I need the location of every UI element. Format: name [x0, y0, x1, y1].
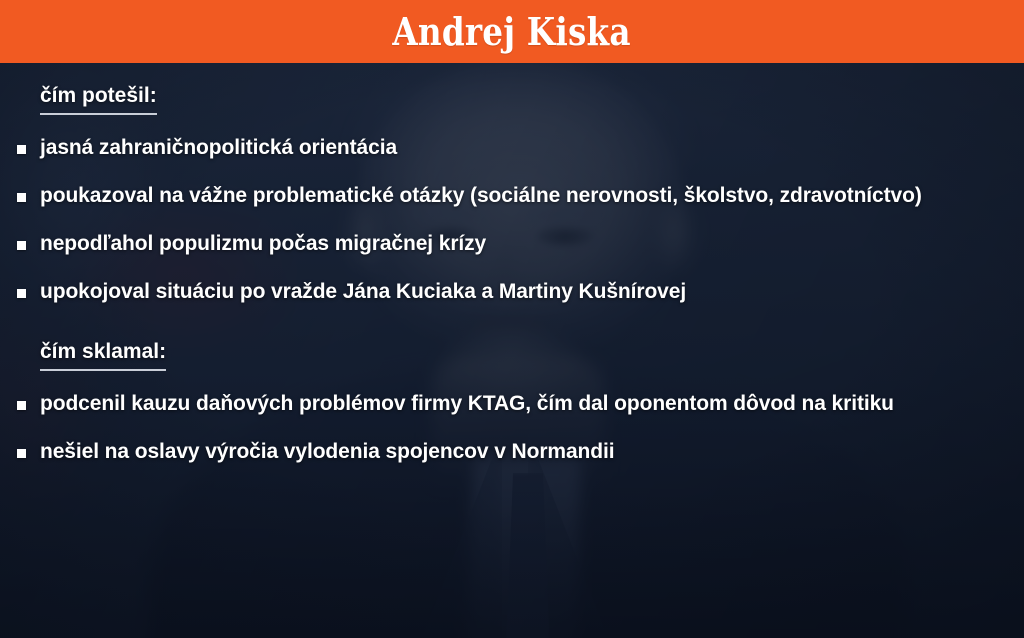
list-item: poukazoval na vážne problematické otázky…: [14, 172, 1010, 220]
section-heading-negatives: čím sklamal:: [40, 338, 166, 371]
bullet-list-positives: jasná zahraničnopolitická orientácia pou…: [14, 124, 1010, 316]
section-positives: čím potešil: jasná zahraničnopolitická o…: [14, 82, 1010, 316]
bullet-list-negatives: podcenil kauzu daňových problémov firmy …: [14, 380, 1010, 476]
list-item: upokojoval situáciu po vražde Jána Kucia…: [14, 268, 1010, 316]
section-negatives: čím sklamal: podcenil kauzu daňových pro…: [14, 338, 1010, 476]
list-item: jasná zahraničnopolitická orientácia: [14, 124, 1010, 172]
page-title: Andrej Kiska: [393, 13, 631, 51]
list-item: podcenil kauzu daňových problémov firmy …: [14, 380, 1010, 428]
list-item: nepodľahol populizmu počas migračnej krí…: [14, 220, 1010, 268]
header-bar: Andrej Kiska: [0, 0, 1024, 63]
list-item: nešiel na oslavy výročia vylodenia spoje…: [14, 428, 1010, 476]
section-heading-positives: čím potešil:: [40, 82, 157, 115]
infographic-card: Andrej Kiska čím potešil: jasná zahranič…: [0, 0, 1024, 638]
content-area: čím potešil: jasná zahraničnopolitická o…: [0, 63, 1024, 638]
